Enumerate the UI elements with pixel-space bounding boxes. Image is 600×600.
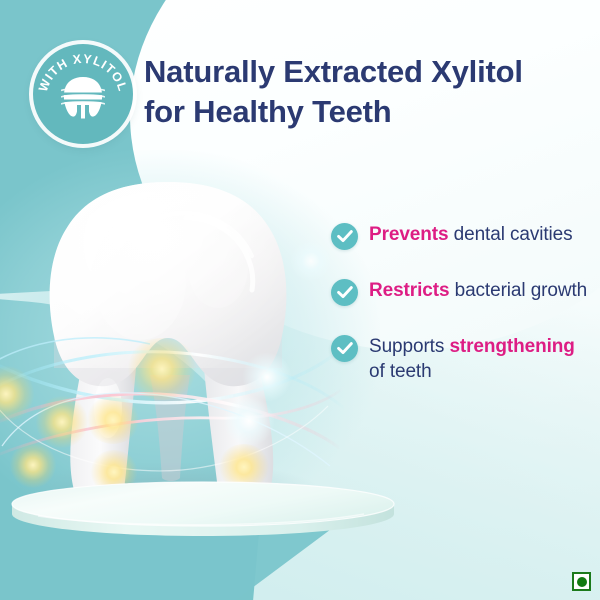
- benefit-highlight: strengthening: [449, 336, 574, 357]
- benefits-list: Prevents dental cavities Restricts bacte…: [331, 222, 593, 412]
- check-glyph: [337, 342, 353, 355]
- hero-tooth-illustration: [0, 160, 350, 520]
- benefit-text: Prevents dental cavities: [369, 222, 573, 248]
- vegetarian-dot: [577, 577, 587, 587]
- benefit-text: Supports strengthening of teeth: [369, 334, 593, 384]
- page-title: Naturally Extracted Xylitol for Healthy …: [144, 52, 584, 131]
- headline-line-1: Naturally Extracted Xylitol: [144, 54, 523, 89]
- tooth-svg: [0, 160, 350, 520]
- benefit-rest: bacterial growth: [449, 280, 587, 301]
- tooth-pedestal: [8, 480, 398, 542]
- benefit-highlight: Restricts: [369, 280, 449, 301]
- benefit-rest: of teeth: [369, 361, 432, 382]
- check-circle-icon: [331, 279, 358, 306]
- benefit-item: Supports strengthening of teeth: [331, 334, 593, 384]
- tooth-icon: [61, 75, 105, 121]
- benefit-item: Prevents dental cavities: [331, 222, 593, 250]
- benefit-item: Restricts bacterial growth: [331, 278, 593, 306]
- pedestal-svg: [8, 480, 398, 542]
- check-glyph: [337, 286, 353, 299]
- benefit-text: Restricts bacterial growth: [369, 278, 587, 304]
- product-poster: WITH XYLITOL Naturally Extracted Xylitol…: [0, 0, 600, 600]
- check-circle-icon: [331, 335, 358, 362]
- headline-line-2: for Healthy Teeth: [144, 92, 584, 132]
- benefit-lead: Supports: [369, 336, 449, 357]
- vegetarian-mark: [572, 572, 591, 591]
- benefit-rest: dental cavities: [448, 224, 572, 245]
- xylitol-badge: WITH XYLITOL: [33, 44, 133, 144]
- benefit-highlight: Prevents: [369, 224, 448, 245]
- check-circle-icon: [331, 223, 358, 250]
- check-glyph: [337, 230, 353, 243]
